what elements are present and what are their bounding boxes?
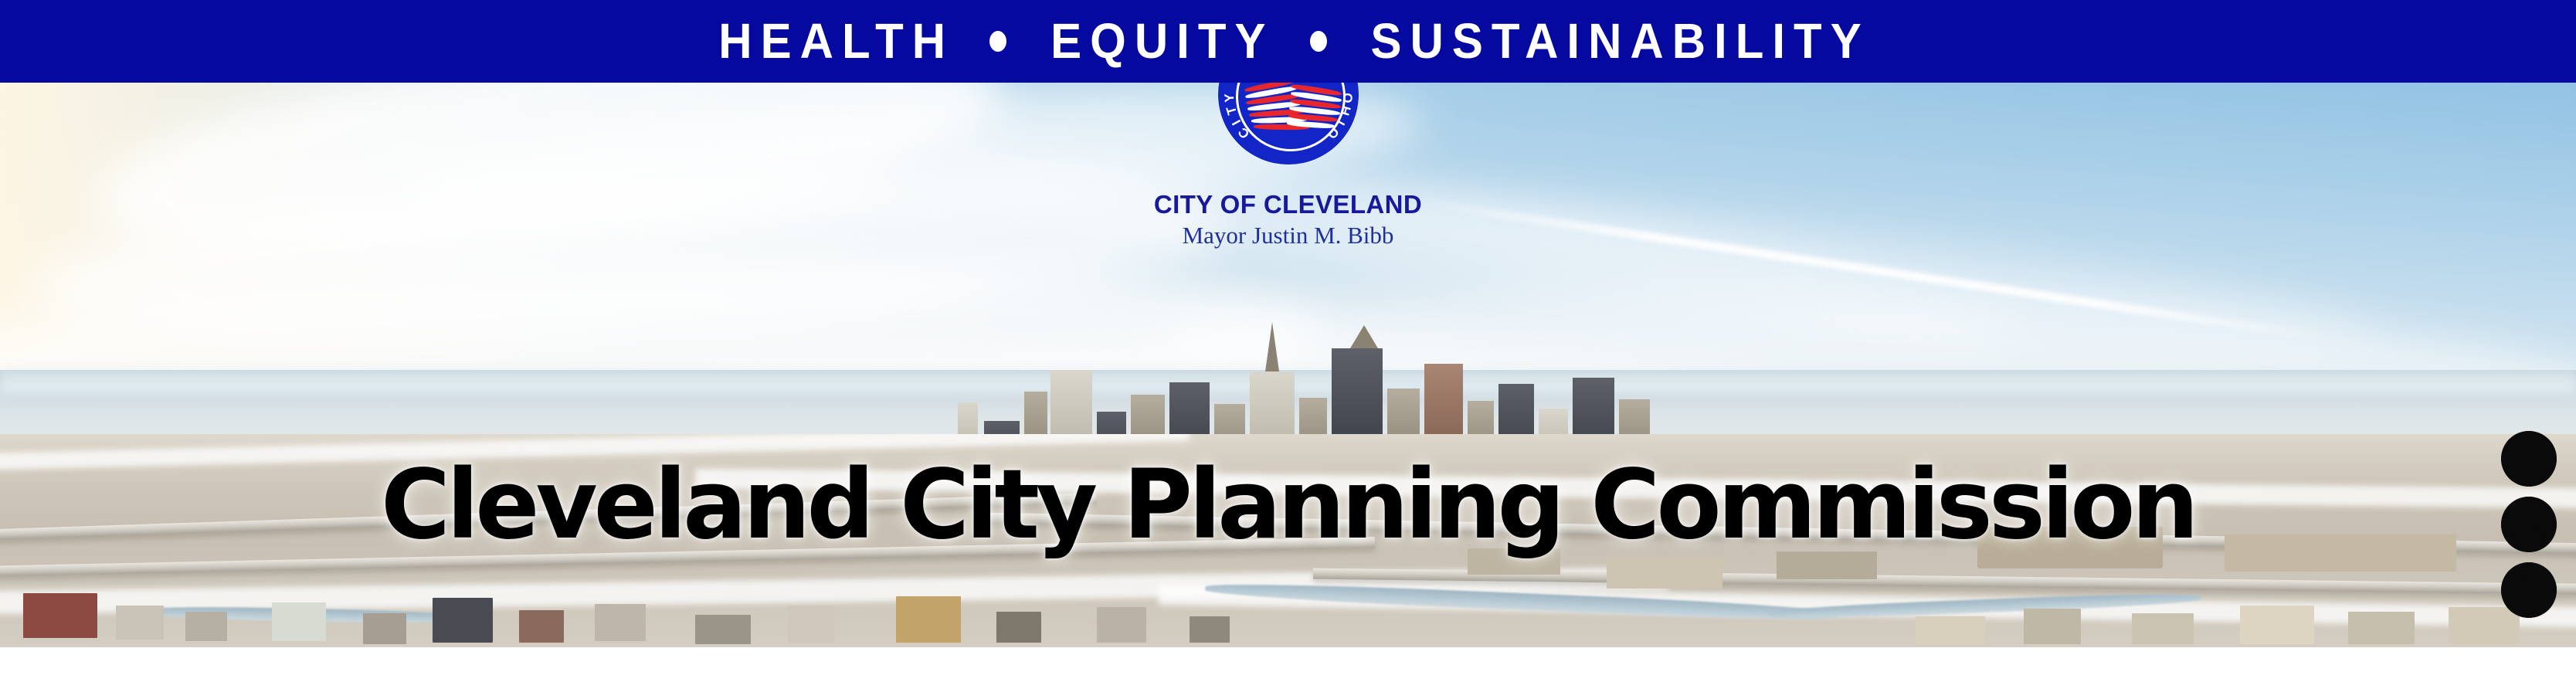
page-title: Cleveland City Planning Commission (13, 457, 2564, 553)
tagline-separator-dot-2 (1310, 31, 1327, 52)
tagline-separator-dot-1 (989, 31, 1006, 52)
tagline-bar: HEALTH EQUITY SUSTAINABILITY (0, 0, 2576, 83)
tagline-word-equity: EQUITY (1050, 17, 1274, 66)
tagline-word-sustainability: SUSTAINABILITY (1371, 17, 1870, 66)
presentation-title-slide: HEALTH EQUITY SUSTAINABILITY (0, 0, 2576, 682)
youtube-icon[interactable] (2501, 431, 2557, 487)
tagline-word-health: HEALTH (718, 17, 954, 66)
facebook-icon[interactable] (2501, 562, 2557, 618)
bottom-white-margin (0, 647, 2576, 682)
tagline-inner: HEALTH EQUITY SUSTAINABILITY (718, 19, 1869, 65)
instagram-icon[interactable] (2501, 497, 2557, 552)
social-links-rail (2501, 431, 2560, 628)
hero-photo (0, 83, 2576, 647)
